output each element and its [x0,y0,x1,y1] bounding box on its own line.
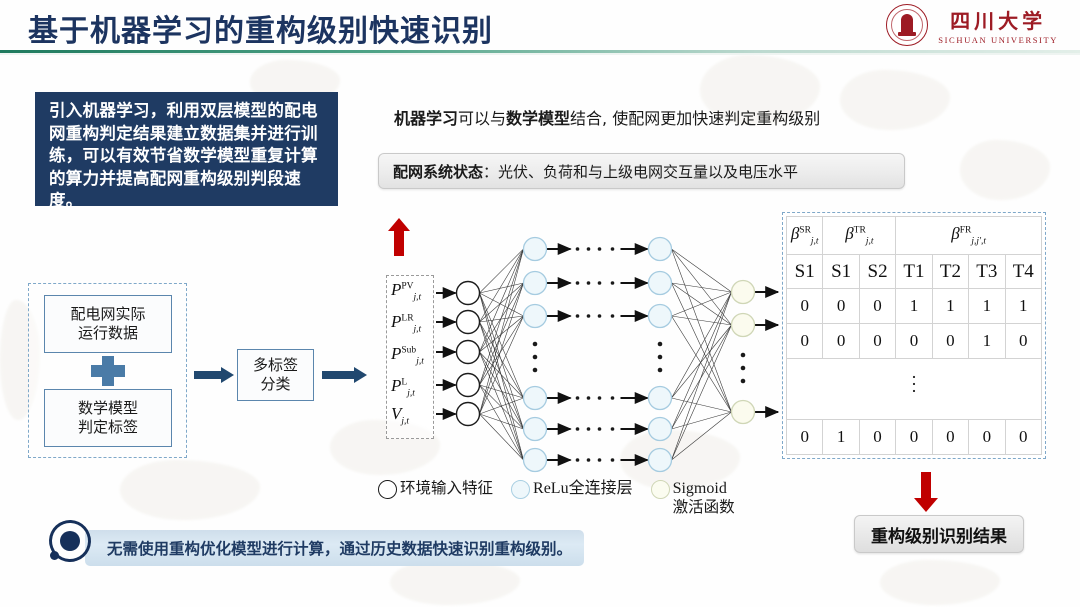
table-column-header: T1 [896,255,932,289]
legend-label-sigmoid: Sigmoid [673,479,735,498]
table-column-header-row: S1S1S2T1T2T3T4 [787,255,1042,289]
table-group-header-row: βSRj,t βTRj,t βFRj,j',t [787,217,1042,255]
ellipsis-dot [576,247,580,251]
ellipsis-dot [576,314,580,318]
table-row: 0000010 [787,323,1042,358]
table-cell: 0 [787,323,823,358]
table-ellipsis-row: ··· [787,358,1042,419]
ellipsis-dot [611,314,615,318]
table-cell: 0 [896,323,932,358]
table-ellipsis: ··· [787,358,1042,419]
ellipsis-dot [611,427,615,431]
circle-blue-icon [511,480,530,499]
ellipsis-dot [611,458,615,462]
table-cell: 1 [969,289,1005,324]
results-table: βSRj,t βTRj,t βFRj,j',t S1S1S2T1T2T3T4 0… [786,216,1042,455]
network-legend: 环境输入特征 ReLu全连接层 Sigmoid 激活函数 [378,479,735,517]
table-cell: 1 [896,289,932,324]
table-cell: 0 [896,420,932,455]
table-row: 0100000 [787,420,1042,455]
table-cell: 1 [969,323,1005,358]
node-output [732,401,755,424]
node-hidden1 [524,449,547,472]
ellipsis-dot [658,342,663,347]
node-hidden1 [524,387,547,410]
table-cell: 0 [932,323,968,358]
node-input [457,311,480,334]
ellipsis-dot [587,396,591,400]
ellipsis-dot [587,247,591,251]
group-header-fr: βFRj,j',t [896,217,1042,255]
bottom-summary-bar: 无需使用重构优化模型进行计算，通过历史数据快速识别重构级别。 [85,530,584,566]
ellipsis-dot [587,427,591,431]
ellipsis-dot [598,314,602,318]
table-column-header: T4 [1005,255,1041,289]
node-hidden1 [524,272,547,295]
results-table-wrap: βSRj,t βTRj,t βFRj,j',t S1S1S2T1T2T3T4 0… [782,212,1046,459]
legend-item-input: 环境输入特征 [378,479,493,499]
ellipsis-dot [533,368,538,373]
node-hidden1 [524,238,547,261]
atom-icon [47,518,93,564]
ellipsis-dot [741,353,746,358]
ellipsis-dot [587,458,591,462]
table-body: 00011110000010···0100000 [787,289,1042,455]
legend-label-relu: ReLu全连接层 [533,479,633,498]
ellipsis-dot [533,355,538,360]
node-hidden2 [649,449,672,472]
ellipsis-dot [598,396,602,400]
ellipsis-dot [576,458,580,462]
table-column-header: T2 [932,255,968,289]
legend-label-sigmoid-2: 激活函数 [673,498,735,517]
table-cell: 1 [1005,289,1041,324]
node-input [457,374,480,397]
ellipsis-dot [611,396,615,400]
group-header-sr: βSRj,t [787,217,823,255]
circle-black-icon [378,480,397,499]
table-column-header: S1 [787,255,823,289]
ellipsis-dot [576,396,580,400]
ellipsis-dot [741,366,746,371]
table-cell: 1 [823,420,859,455]
ellipsis-dot [576,281,580,285]
circle-green-icon [651,480,670,499]
table-cell: 0 [932,420,968,455]
node-hidden2 [649,418,672,441]
node-hidden2 [649,272,672,295]
table-cell: 1 [932,289,968,324]
ellipsis-dot [658,368,663,373]
table-cell: 0 [1005,420,1041,455]
ellipsis-dot [741,379,746,384]
result-box: 重构级别识别结果 [854,515,1024,553]
table-column-header: S2 [859,255,895,289]
node-input [457,403,480,426]
slide-root: 基于机器学习的重构级别快速识别 四川大学 SICHUAN UNIVERSITY … [0,0,1080,607]
table-cell: 0 [787,289,823,324]
node-hidden2 [649,387,672,410]
legend-label-input: 环境输入特征 [400,479,493,498]
table-cell: 0 [859,323,895,358]
node-hidden1 [524,305,547,328]
node-output [732,314,755,337]
ellipsis-dot [598,427,602,431]
ellipsis-dot [587,314,591,318]
legend-item-relu: ReLu全连接层 [511,479,633,499]
table-cell: 0 [859,420,895,455]
ellipsis-dot [611,247,615,251]
node-input [457,282,480,305]
table-cell: 0 [823,289,859,324]
node-output [732,281,755,304]
table-cell: 0 [787,420,823,455]
table-cell: 0 [859,289,895,324]
table-row: 0001111 [787,289,1042,324]
ellipsis-dot [598,247,602,251]
legend-item-sigmoid: Sigmoid 激活函数 [651,479,735,517]
ellipsis-dot [598,281,602,285]
table-column-header: S1 [823,255,859,289]
table-cell: 0 [1005,323,1041,358]
ellipsis-dot [598,458,602,462]
table-cell: 0 [823,323,859,358]
node-hidden1 [524,418,547,441]
ellipsis-dot [533,342,538,347]
ellipsis-dot [611,281,615,285]
node-input [457,341,480,364]
ellipsis-dot [576,427,580,431]
table-column-header: T3 [969,255,1005,289]
group-header-tr: βTRj,t [823,217,896,255]
ellipsis-dot [658,355,663,360]
table-cell: 0 [969,420,1005,455]
ellipsis-dot [587,281,591,285]
node-hidden2 [649,238,672,261]
node-hidden2 [649,305,672,328]
arrow-down-to-result [914,472,938,512]
